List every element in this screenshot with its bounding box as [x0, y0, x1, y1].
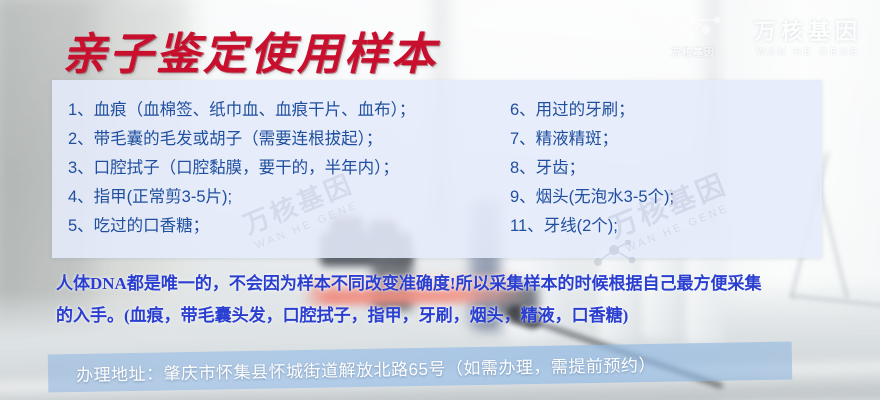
page-title: 亲子鉴定使用样本: [62, 18, 438, 82]
note-paragraph: 人体DNA都是唯一的，不会因为样本不同改变准确度!所以采集样本的时候根据自己最方…: [56, 268, 846, 332]
brand-divider: [739, 19, 740, 53]
list-item: 8、牙齿；: [510, 154, 822, 183]
list-item: 6、用过的牙刷；: [510, 96, 822, 125]
brand-name-cn: 万核基因: [754, 14, 862, 46]
address-text: 办理地址：肇庆市怀集县怀城街道解放北路65号（如需办理，需提前预约）: [48, 350, 656, 386]
sample-list-panel: 1、血痕（血棉签、纸巾血、血痕干片、血布）； 2、带毛囊的毛发或胡子（需要连根拔…: [52, 80, 822, 258]
list-item: 5、吃过的口香糖；: [68, 212, 502, 241]
brand-mark-label: 万核基因: [671, 44, 715, 59]
list-item: 7、精液精斑；: [510, 125, 822, 154]
list-item: 11、牙线(2个);: [510, 212, 822, 241]
list-item: 4、指甲(正常剪3-5片);: [68, 183, 502, 212]
sample-list-right-column: 6、用过的牙刷； 7、精液精斑； 8、牙齿； 9、烟头(无泡水3-5个); 11…: [502, 80, 822, 258]
brand-logo: 万核基因 万核基因 WAN HE GENE: [661, 12, 862, 59]
poster-canvas: 万核基因 万核基因 WAN HE GENE 亲子鉴定使用样本 1、血痕（血棉签、…: [0, 0, 880, 400]
list-item: 9、烟头(无泡水3-5个);: [510, 183, 822, 212]
list-item: 2、带毛囊的毛发或胡子（需要连根拔起）；: [68, 125, 502, 154]
molecule-icon: [661, 12, 725, 42]
list-item: 3、口腔拭子（口腔黏膜，要干的，半年内）；: [68, 154, 502, 183]
brand-wordmark: 万核基因 WAN HE GENE: [754, 14, 862, 58]
note-line-2: 的入手。(血痕，带毛囊头发，口腔拭子，指甲，牙刷，烟头，精液，口香糖): [56, 300, 846, 332]
brand-mark: 万核基因: [661, 12, 725, 59]
sample-list-left-column: 1、血痕（血棉签、纸巾血、血痕干片、血布）； 2、带毛囊的毛发或胡子（需要连根拔…: [52, 80, 502, 258]
note-line-1: 人体DNA都是唯一的，不会因为样本不同改变准确度!所以采集样本的时候根据自己最方…: [56, 268, 846, 300]
brand-name-en: WAN HE GENE: [756, 47, 860, 58]
list-item: 1、血痕（血棉签、纸巾血、血痕干片、血布）；: [68, 96, 502, 125]
